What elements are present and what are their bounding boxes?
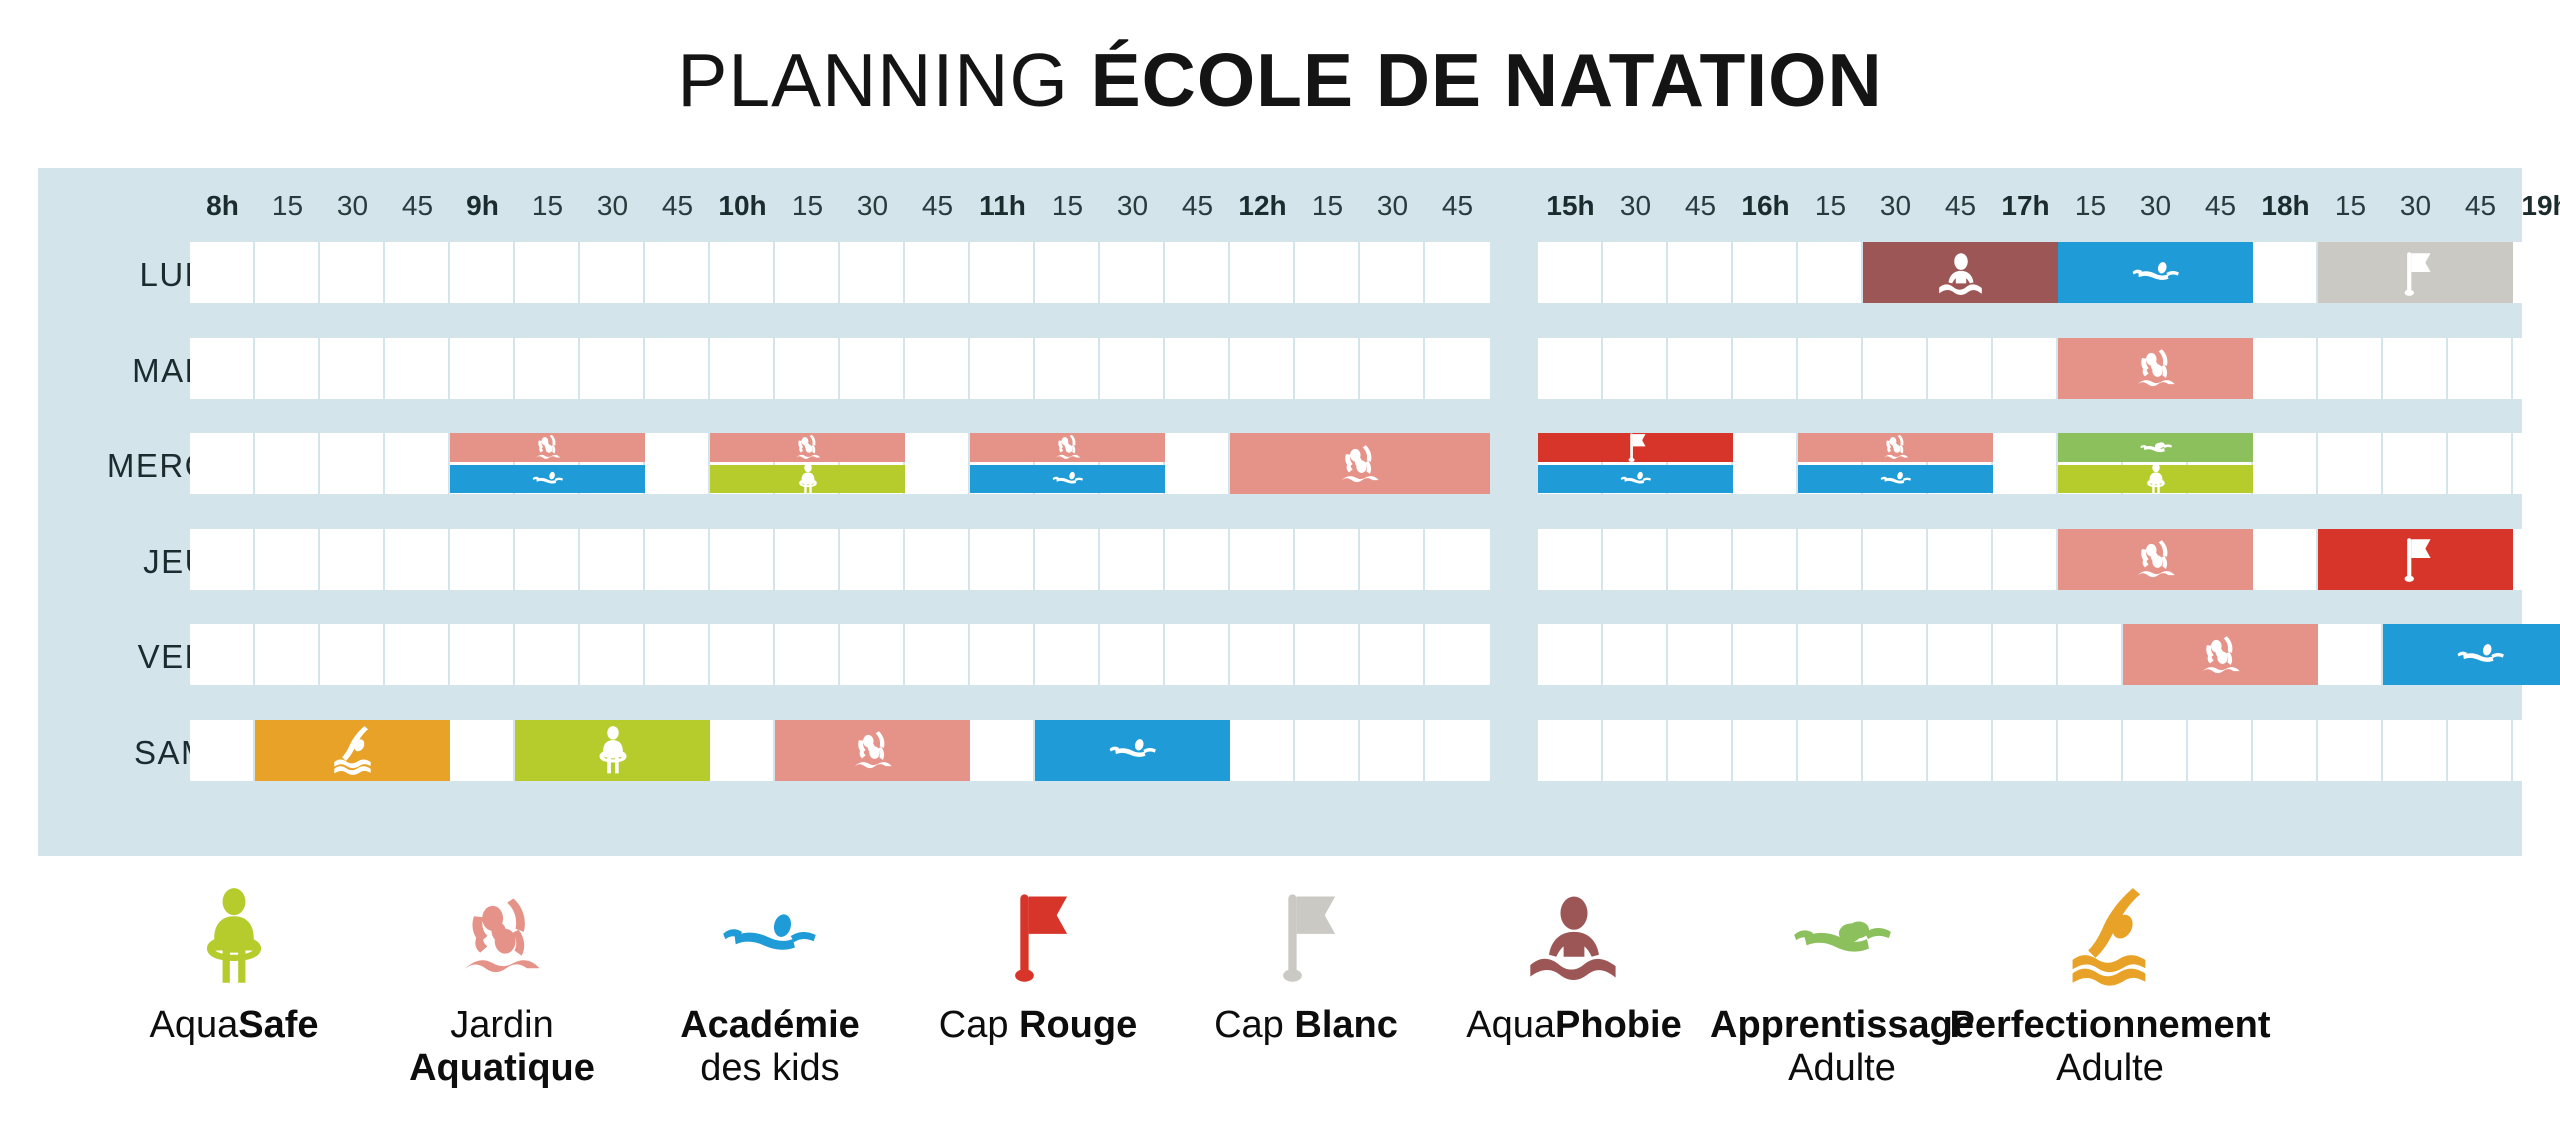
grid-cell[interactable] [2448,433,2513,494]
flag-icon [1254,870,1358,988]
grid-cell[interactable] [385,433,450,494]
two-figures-in-water-icon [531,433,565,462]
grid-cell[interactable] [1863,338,1928,399]
grid-cell[interactable] [320,433,385,494]
session-block-aquasafe[interactable] [515,720,710,781]
time-tick-18h: 18h [2253,188,2318,224]
grid-cell[interactable] [2253,529,2318,590]
grid-cell[interactable] [1733,433,1798,494]
grid-cell[interactable] [2513,720,2560,781]
legend-label-cap_rouge: Cap Rouge [939,1004,1138,1047]
grid-cell[interactable] [1798,338,1863,399]
grid-cell[interactable] [2123,720,2188,781]
grid-cell[interactable] [1035,338,1100,399]
time-tick-30: 30 [1863,188,1928,224]
grid-cell[interactable] [2513,242,2560,303]
grid-cell[interactable] [580,624,645,685]
two-figures-in-water-icon [2130,342,2182,394]
time-tick-17h: 17h [1993,188,2058,224]
session-block-jardin[interactable] [970,433,1165,462]
legend-label-perfectionnement: PerfectionnementAdulte [1950,1004,2271,1089]
session-block-jardin[interactable] [2058,529,2253,590]
two-figures-in-water-icon [791,433,825,462]
grid-cell[interactable] [1100,529,1165,590]
legend-label-aquaphobie: AquaPhobie [1466,1004,1681,1047]
grid-cell[interactable] [1928,720,1993,781]
day-label-lun: LUN [38,256,210,294]
legend-item-academie[interactable]: Académiedes kids [636,870,904,1130]
two-figures-in-water-icon [450,870,554,988]
session-block-cap_rouge[interactable] [2318,529,2513,590]
grid-cell[interactable] [1100,338,1165,399]
grid-cell[interactable] [2058,624,2123,685]
two-figures-in-water-icon [847,724,899,776]
grid-cell[interactable] [2253,242,2318,303]
time-tick-30: 30 [1100,188,1165,224]
grid-cell[interactable] [905,624,970,685]
grid-cell[interactable] [1230,720,1295,781]
session-block-jardin[interactable] [1230,433,1490,494]
front-crawl-swimmer-icon [531,465,565,494]
two-figures-in-water-icon [2130,533,2182,585]
session-block-jardin[interactable] [450,433,645,462]
grid-cell[interactable] [1668,720,1733,781]
adult-swimmer-icon [2139,433,2173,462]
time-tick-15: 15 [255,188,320,224]
grid-cell[interactable] [1538,720,1603,781]
time-tick-30: 30 [840,188,905,224]
time-tick-45: 45 [1165,188,1230,224]
grid-cell[interactable] [1733,338,1798,399]
time-tick-45: 45 [385,188,450,224]
diver-icon [327,724,379,776]
grid-cell[interactable] [1668,624,1733,685]
time-tick-45: 45 [645,188,710,224]
grid-cell[interactable] [255,242,320,303]
grid-cell[interactable] [645,529,710,590]
grid-cell[interactable] [1733,720,1798,781]
title-bar: PLANNING ÉCOLE DE NATATION [0,0,2560,160]
grid-cell[interactable] [1668,338,1733,399]
grid-cell[interactable] [970,338,1035,399]
grid-cell[interactable] [1668,529,1733,590]
grid-cell[interactable] [970,624,1035,685]
session-block-academie[interactable] [450,465,645,494]
grid-cell[interactable] [515,242,580,303]
time-tick-15: 15 [1295,188,1360,224]
grid-cell[interactable] [1035,624,1100,685]
time-tick-30: 30 [2123,188,2188,224]
time-tick-9h: 9h [450,188,515,224]
session-block-aquasafe[interactable] [710,465,905,494]
grid-cell[interactable] [1603,529,1668,590]
grid-cell[interactable] [2383,433,2448,494]
grid-cell[interactable] [905,433,970,494]
grid-cell[interactable] [1425,338,1490,399]
time-tick-45: 45 [1425,188,1490,224]
front-crawl-swimmer-icon [2130,247,2182,299]
grid-cell[interactable] [905,529,970,590]
diver-icon [2058,870,2162,988]
standing-child-with-ring-icon [587,724,639,776]
time-tick-16h: 16h [1733,188,1798,224]
day-label-jeu: JEU [38,543,210,581]
time-tick-15h: 15h [1538,188,1603,224]
grid-cell[interactable] [1295,529,1360,590]
time-tick-15: 15 [2058,188,2123,224]
grid-cell[interactable] [1993,338,2058,399]
grid-cell[interactable] [1603,720,1668,781]
grid-cell[interactable] [1425,624,1490,685]
session-block-jardin[interactable] [710,433,905,462]
page-title-light: PLANNING [677,38,1090,122]
legend-label-jardin: JardinAquatique [409,1004,595,1089]
legend-item-cap_rouge[interactable]: Cap Rouge [904,870,1172,1130]
legend-item-cap_blanc[interactable]: Cap Blanc [1172,870,1440,1130]
grid-cell[interactable] [1360,529,1425,590]
grid-cell[interactable] [905,338,970,399]
grid-cell[interactable] [1100,242,1165,303]
two-figures-in-water-icon [1879,433,1913,462]
grid-cell[interactable] [970,720,1035,781]
grid-cell[interactable] [840,529,905,590]
schedule-panel: 8h1530459h15304510h15304511h15304512h153… [38,168,2522,856]
grid-cell[interactable] [450,242,515,303]
time-tick-30: 30 [320,188,385,224]
grid-cell[interactable] [2188,720,2253,781]
grid-cell[interactable] [320,242,385,303]
session-block-academie[interactable] [1798,465,1993,494]
time-tick-45: 45 [2448,188,2513,224]
grid-cell[interactable] [645,624,710,685]
grid-cell[interactable] [1733,242,1798,303]
grid-cell[interactable] [1425,242,1490,303]
grid-cell[interactable] [255,624,320,685]
time-tick-45: 45 [1668,188,1733,224]
grid-cell[interactable] [385,529,450,590]
grid-cell[interactable] [775,242,840,303]
grid-cell[interactable] [515,529,580,590]
grid-cell[interactable] [1863,624,1928,685]
grid-cell[interactable] [1798,529,1863,590]
grid-cell[interactable] [1360,720,1425,781]
grid-cell[interactable] [1360,242,1425,303]
grid-cell[interactable] [1798,624,1863,685]
legend-label-academie: Académiedes kids [680,1004,860,1089]
grid-cell[interactable] [775,338,840,399]
legend-label-cap_blanc: Cap Blanc [1214,1004,1398,1047]
grid-cell[interactable] [515,624,580,685]
session-block-academie[interactable] [2383,624,2560,685]
time-tick-19h: 19h [2513,188,2560,224]
session-block-jardin[interactable] [775,720,970,781]
session-block-perfectionnement[interactable] [255,720,450,781]
grid-cell[interactable] [2513,529,2560,590]
time-tick-45: 45 [2188,188,2253,224]
grid-cell[interactable] [1425,529,1490,590]
grid-cell[interactable] [645,338,710,399]
grid-cell[interactable] [2058,720,2123,781]
flag-icon [986,870,1090,988]
grid-cell[interactable] [645,433,710,494]
time-tick-45: 45 [1928,188,1993,224]
front-crawl-swimmer-icon [1879,465,1913,494]
grid-cell[interactable] [580,338,645,399]
grid-cell[interactable] [1993,433,2058,494]
grid-cell[interactable] [255,338,320,399]
standing-child-with-ring-icon [182,870,286,988]
grid-cell[interactable] [710,338,775,399]
grid-cell[interactable] [1100,624,1165,685]
time-tick-30: 30 [1360,188,1425,224]
two-figures-in-water-icon [1334,438,1386,490]
grid-cell[interactable] [255,433,320,494]
grid-cell[interactable] [1425,720,1490,781]
session-block-apprentissage[interactable] [2058,433,2253,462]
day-label-mar: MAR [38,352,210,390]
grid-cell[interactable] [1538,242,1603,303]
grid-cell[interactable] [1230,338,1295,399]
grid-cell[interactable] [710,242,775,303]
grid-cell[interactable] [320,529,385,590]
session-block-academie[interactable] [1035,720,1230,781]
grid-cell[interactable] [190,624,255,685]
day-label-ven: VEN [38,638,210,676]
grid-cell[interactable] [840,242,905,303]
grid-cell[interactable] [1733,529,1798,590]
grid-cell[interactable] [1863,529,1928,590]
time-tick-15: 15 [1798,188,1863,224]
legend: AquaSafe JardinAquatique [0,870,2560,1130]
legend-item-apprentissage[interactable]: ApprentissageAdulte [1708,870,1976,1130]
grid-cell[interactable] [1035,242,1100,303]
grid-cell[interactable] [580,242,645,303]
grid-cell[interactable] [515,338,580,399]
legend-item-aquaphobie[interactable]: AquaPhobie [1440,870,1708,1130]
session-block-aquaphobie[interactable] [1863,242,2058,303]
grid-cell[interactable] [1603,624,1668,685]
session-block-cap_blanc[interactable] [2318,242,2513,303]
grid-cell[interactable] [320,624,385,685]
flag-icon [2390,247,2442,299]
grid-cell[interactable] [1360,624,1425,685]
grid-cell[interactable] [1798,242,1863,303]
grid-cell[interactable] [1863,720,1928,781]
page-title-bold: ÉCOLE DE NATATION [1091,38,1883,122]
grid-cell[interactable] [190,529,255,590]
grid-cell[interactable] [1295,242,1360,303]
grid-cell[interactable] [1798,720,1863,781]
grid-cell[interactable] [1993,720,2058,781]
grid-cell[interactable] [1993,529,2058,590]
legend-item-aquasafe[interactable]: AquaSafe [100,870,368,1130]
time-tick-30: 30 [1603,188,1668,224]
front-crawl-swimmer-icon [1051,465,1085,494]
session-block-jardin[interactable] [1798,433,1993,462]
time-tick-30: 30 [2383,188,2448,224]
grid-cell[interactable] [1360,338,1425,399]
grid-cell[interactable] [1668,242,1733,303]
grid-cell[interactable] [385,624,450,685]
grid-cell[interactable] [450,529,515,590]
legend-item-perfectionnement[interactable]: PerfectionnementAdulte [1976,870,2244,1130]
session-block-academie[interactable] [1538,465,1733,494]
front-crawl-swimmer-icon [718,870,822,988]
two-figures-in-water-icon [2195,629,2247,681]
grid-cell[interactable] [385,242,450,303]
grid-cell[interactable] [1230,242,1295,303]
grid-cell[interactable] [2448,338,2513,399]
grid-cell[interactable] [1230,624,1295,685]
grid-cell[interactable] [1165,624,1230,685]
time-tick-15: 15 [515,188,580,224]
grid-cell[interactable] [840,338,905,399]
grid-cell[interactable] [2318,624,2383,685]
grid-cell[interactable] [450,624,515,685]
grid-cell[interactable] [190,720,255,781]
bust-in-water-icon [1935,247,1987,299]
time-tick-15: 15 [1035,188,1100,224]
grid-cell[interactable] [190,433,255,494]
grid-cell[interactable] [710,720,775,781]
day-label-merc: MERC [38,447,210,485]
grid-cell[interactable] [1928,529,1993,590]
time-tick-8h: 8h [190,188,255,224]
session-block-jardin[interactable] [2123,624,2318,685]
grid-cell[interactable] [2318,720,2383,781]
grid-cell[interactable] [2448,720,2513,781]
grid-cell[interactable] [320,338,385,399]
page-title: PLANNING ÉCOLE DE NATATION [677,37,1882,123]
time-tick-15: 15 [2318,188,2383,224]
session-block-academie[interactable] [970,465,1165,494]
grid-cell[interactable] [1993,624,2058,685]
grid-cell[interactable] [2253,433,2318,494]
front-crawl-swimmer-icon [1107,724,1159,776]
grid-cell[interactable] [970,529,1035,590]
legend-item-jardin[interactable]: JardinAquatique [368,870,636,1130]
grid-cell[interactable] [2513,338,2560,399]
grid-cell[interactable] [1538,338,1603,399]
adult-swimmer-icon [1790,870,1894,988]
grid-cell[interactable] [1603,242,1668,303]
time-tick-45: 45 [905,188,970,224]
grid-cell[interactable] [1295,624,1360,685]
grid-cell[interactable] [840,624,905,685]
session-block-academie[interactable] [2058,242,2253,303]
standing-child-with-ring-icon [2139,465,2173,494]
grid-cell[interactable] [2383,720,2448,781]
grid-cell[interactable] [2253,338,2318,399]
flag-icon [2390,533,2442,585]
grid-cell[interactable] [645,242,710,303]
two-figures-in-water-icon [1051,433,1085,462]
grid-cell[interactable] [1035,529,1100,590]
grid-cell[interactable] [710,529,775,590]
front-crawl-swimmer-icon [2455,629,2507,681]
grid-cell[interactable] [2318,433,2383,494]
grid-cell[interactable] [905,242,970,303]
grid-cell[interactable] [775,529,840,590]
grid-cell[interactable] [1603,338,1668,399]
grid-cell[interactable] [1165,529,1230,590]
day-label-sam: SAM [38,734,210,772]
grid-cell[interactable] [1295,338,1360,399]
time-tick-10h: 10h [710,188,775,224]
front-crawl-swimmer-icon [1619,465,1653,494]
grid-cell[interactable] [1165,242,1230,303]
grid-cell[interactable] [1538,529,1603,590]
grid-cell[interactable] [2383,338,2448,399]
grid-cell[interactable] [385,338,450,399]
bust-in-water-icon [1522,870,1626,988]
flag-icon [1619,433,1653,462]
grid-cell[interactable] [190,338,255,399]
grid-cell[interactable] [970,242,1035,303]
time-tick-11h: 11h [970,188,1035,224]
grid-cell[interactable] [2513,433,2560,494]
grid-cell[interactable] [1733,624,1798,685]
grid-cell[interactable] [1928,338,1993,399]
time-tick-15: 15 [775,188,840,224]
grid-cell[interactable] [190,242,255,303]
standing-child-with-ring-icon [791,465,825,494]
grid-cell[interactable] [1928,624,1993,685]
time-tick-12h: 12h [1230,188,1295,224]
session-block-aquasafe[interactable] [2058,465,2253,494]
time-tick-30: 30 [580,188,645,224]
grid-cell[interactable] [1230,529,1295,590]
grid-cell[interactable] [775,624,840,685]
grid-cell[interactable] [1165,338,1230,399]
legend-label-aquasafe: AquaSafe [149,1004,318,1047]
session-block-cap_rouge[interactable] [1538,433,1733,462]
session-block-jardin[interactable] [2058,338,2253,399]
grid-cell[interactable] [450,338,515,399]
grid-cell[interactable] [255,529,320,590]
legend-label-apprentissage: ApprentissageAdulte [1710,1004,1974,1089]
grid-cell[interactable] [1538,624,1603,685]
grid-cell[interactable] [450,720,515,781]
grid-cell[interactable] [1165,433,1230,494]
grid-cell[interactable] [2253,720,2318,781]
grid-cell[interactable] [1295,720,1360,781]
grid-cell[interactable] [710,624,775,685]
grid-cell[interactable] [580,529,645,590]
grid-cell[interactable] [2318,338,2383,399]
